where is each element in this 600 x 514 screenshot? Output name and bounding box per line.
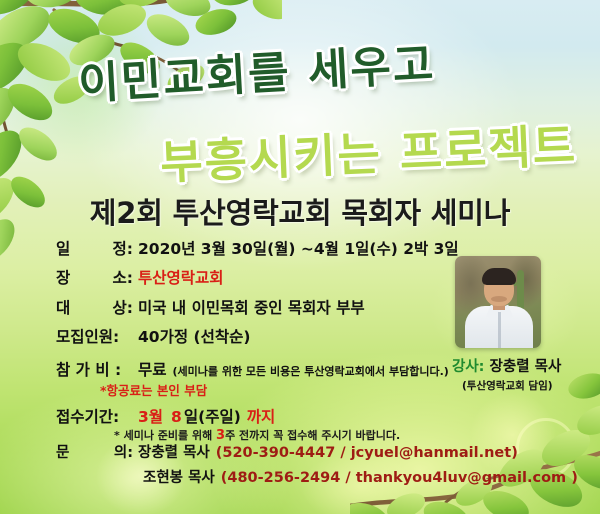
schedule-value: 2020년 3월 30일(월) ~4월 1일(수) 2박 3일 — [138, 240, 459, 259]
info-row-audience: 대 상: 미국 내 이민목회 중인 목회자 부부 — [56, 299, 476, 318]
registration-label: 접수기간: — [56, 408, 138, 427]
photo-cactus — [517, 270, 524, 310]
info-row-capacity: 모집인원: 40가정 (선착순) — [56, 328, 476, 347]
fee-value: 무료 — [138, 361, 167, 380]
info-row-registration: 접수기간: 3월 8 일(주일) 까지 — [56, 408, 476, 427]
contact-person-1-name: 장충렬 목사 — [138, 441, 210, 462]
photo-smile — [491, 296, 507, 302]
capacity-label: 모집인원: — [56, 328, 138, 347]
registration-day: 8 — [171, 408, 182, 427]
registration-day-suffix: 일(주일) — [184, 408, 241, 427]
info-row-venue: 장 소: 투산영락교회 — [56, 269, 476, 288]
page-title: 제2회 투산영락교회 목회자 세미나 — [0, 190, 600, 232]
photo-glasses — [486, 283, 512, 290]
airfare-note: *항공료는 본인 부담 — [100, 380, 476, 399]
contact-row-1: 문 의: 장충렬 목사 (520-390-4447 / jcyuel@hanma… — [56, 441, 556, 462]
fee-label: 참 가 비 : — [56, 361, 138, 380]
speaker-caption-label: 강사: — [452, 359, 484, 375]
contact-block: 문 의: 장충렬 목사 (520-390-4447 / jcyuel@hanma… — [56, 441, 556, 491]
audience-value: 미국 내 이민목회 중인 목회자 부부 — [138, 299, 365, 318]
contact-row-2: 조현봉 목사 (480-256-2494 / thankyou4luv@gmai… — [143, 466, 556, 487]
info-row-schedule: 일 정: 2020년 3월 30일(월) ~4월 1일(수) 2박 3일 — [56, 240, 476, 259]
speaker-block: 강사: 장충렬 목사 (투산영락교회 담임) — [452, 256, 592, 393]
speaker-affiliation: (투산영락교회 담임) — [462, 378, 592, 393]
title-line-2: 부흥시키는 프로젝트 — [159, 109, 578, 192]
speaker-photo — [455, 256, 541, 348]
contact-label: 문 의: — [56, 441, 138, 462]
capacity-value: 40가정 (선착순) — [138, 328, 250, 347]
seminar-poster: 이민교회를 세우고 부흥시키는 프로젝트 제2회 투산영락교회 목회자 세미나 … — [0, 0, 600, 514]
speaker-caption-name: 장충렬 목사 — [490, 359, 562, 375]
registration-month: 3월 — [138, 408, 163, 427]
photo-shirt-placket — [498, 312, 501, 348]
contact-person-2-detail[interactable]: (480-256-2494 / thankyou4luv@gmail.com ) — [221, 470, 578, 486]
schedule-label: 일 정: — [56, 240, 138, 259]
audience-label: 대 상: — [56, 299, 138, 318]
info-list: 일 정: 2020년 3월 30일(월) ~4월 1일(수) 2박 3일 장 소… — [56, 240, 476, 452]
venue-value: 투산영락교회 — [138, 269, 224, 288]
registration-until: 까지 — [247, 408, 276, 427]
info-row-fee: 참 가 비 : 무료 (세미나를 위한 모든 비용은 투산영락교회에서 부담합니… — [56, 361, 476, 380]
venue-label: 장 소: — [56, 269, 138, 288]
speaker-caption: 강사: 장충렬 목사 — [452, 355, 592, 376]
fee-note: (세미나를 위한 모든 비용은 투산영락교회에서 부담합니다.) — [173, 365, 449, 379]
contact-person-1-detail[interactable]: (520-390-4447 / jcyuel@hanmail.net) — [216, 445, 518, 461]
contact-person-2-name: 조현봉 목사 — [143, 466, 215, 487]
